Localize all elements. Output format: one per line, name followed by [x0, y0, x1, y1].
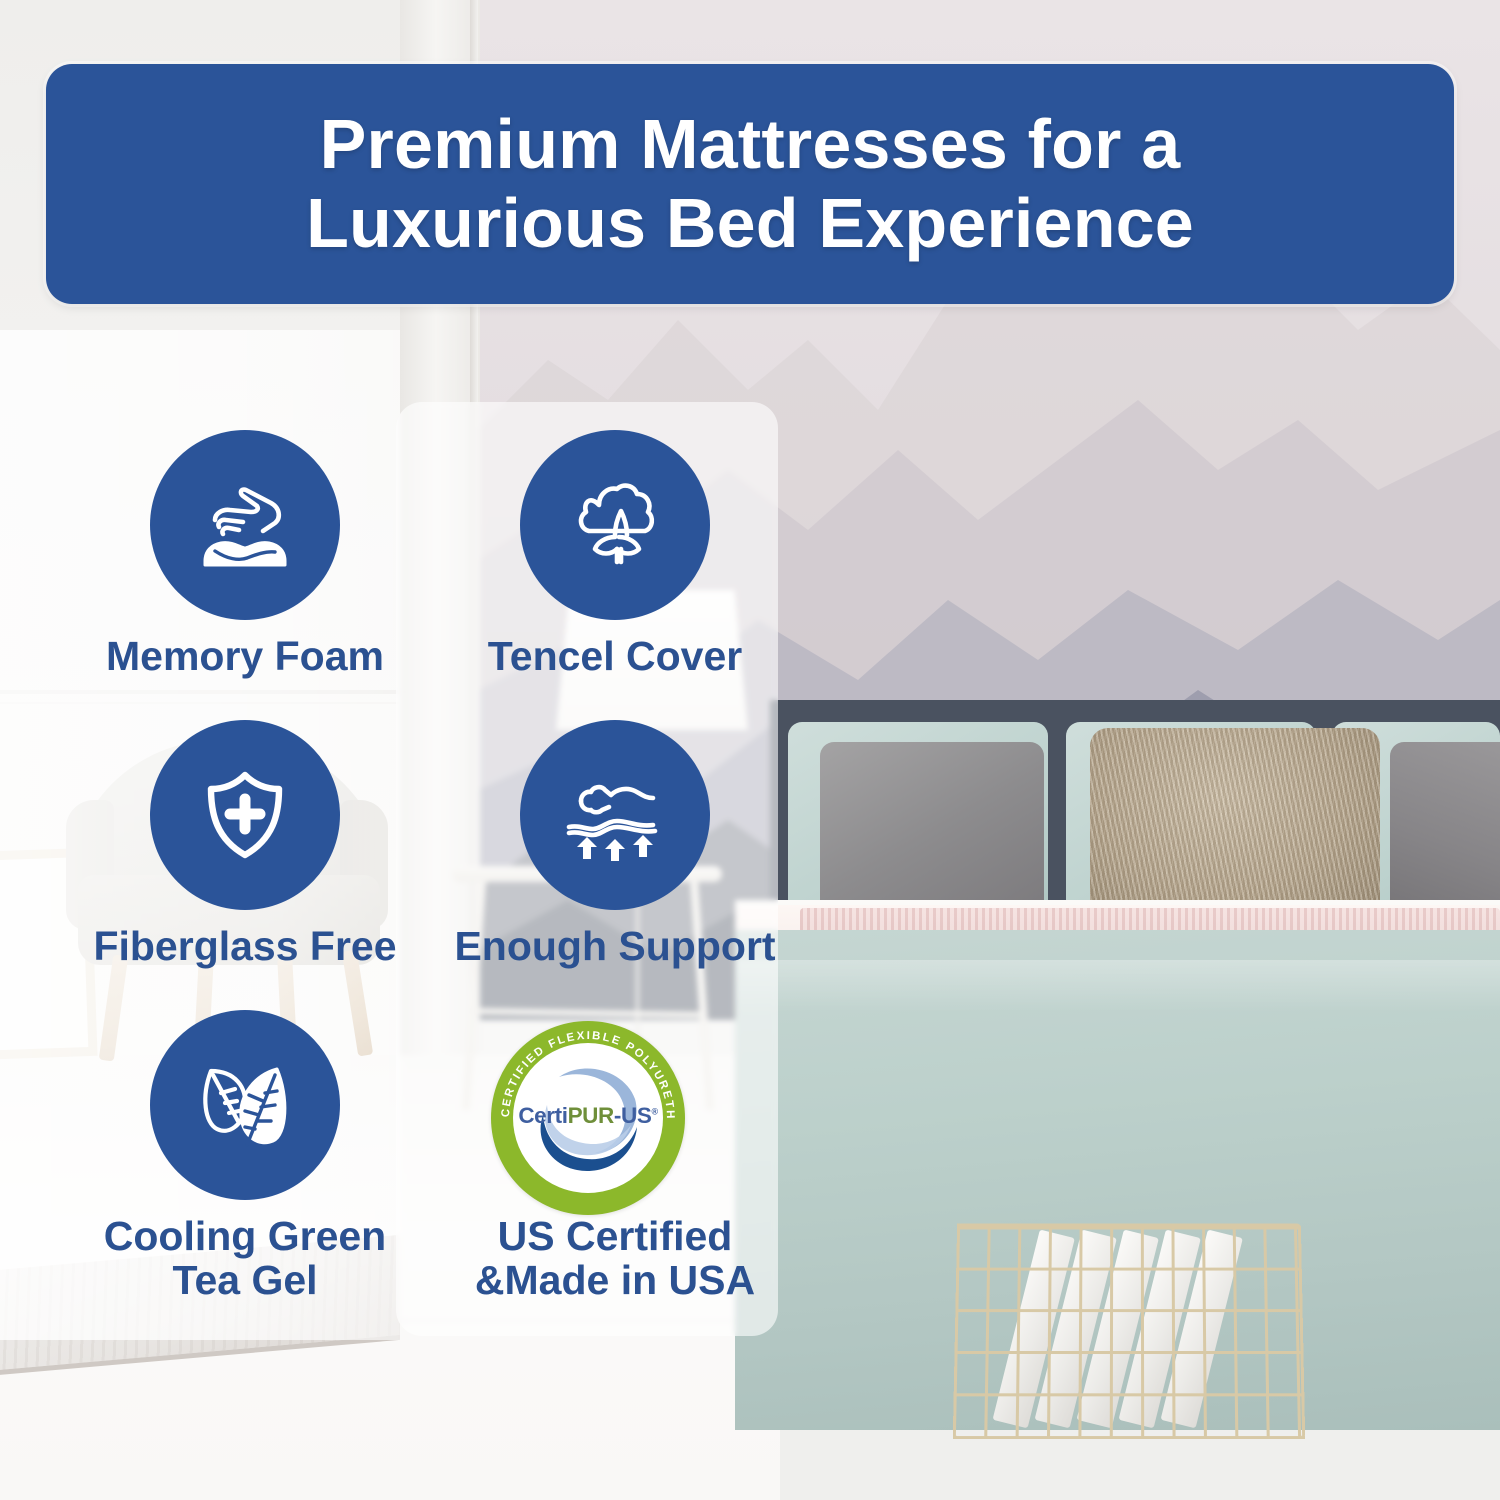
feature-row: Cooling Green Tea Gel US Certified &Made… [60, 1010, 800, 1340]
duvet-fold [735, 960, 1500, 1012]
page-title-line-1: Premium Mattresses for a [320, 105, 1181, 183]
feature-fiberglass-free[interactable]: Fiberglass Free [60, 720, 430, 1010]
person-on-mattress-support-arrows-icon [520, 720, 710, 910]
feature-grid: Memory Foam Tencel Cover [60, 430, 800, 1340]
cotton-boll-icon [520, 430, 710, 620]
feature-tencel-cover[interactable]: Tencel Cover [430, 430, 800, 720]
feature-label: US Certified &Made in USA [475, 1214, 755, 1303]
infographic-canvas: Premium Mattresses for a Luxurious Bed E… [0, 0, 1500, 1500]
feature-label: Fiberglass Free [93, 924, 396, 968]
hand-pressing-foam-icon [150, 430, 340, 620]
feature-row: Memory Foam Tencel Cover [60, 430, 800, 720]
feature-memory-foam[interactable]: Memory Foam [60, 430, 430, 720]
certipur-us-badge: CertiPUR-US® CONTAINS CERTIFIED FLEXIBLE… [491, 1021, 685, 1215]
certipur-top-arc-label: CONTAINS CERTIFIED FLEXIBLE POLYURETHANE… [491, 1021, 676, 1121]
page-title-line-2: Luxurious Bed Experience [306, 184, 1194, 263]
wire-basket [953, 1224, 1305, 1440]
feature-label: Memory Foam [106, 634, 384, 678]
pillow-grey-velvet [820, 742, 1044, 922]
pillow-faux-fur [1090, 728, 1380, 924]
feature-label: Tencel Cover [488, 634, 742, 678]
feature-cooling-green-tea-gel[interactable]: Cooling Green Tea Gel [60, 1010, 430, 1340]
feature-label: Enough Support [454, 924, 775, 968]
feature-enough-support[interactable]: Enough Support [430, 720, 800, 1010]
feature-label: Cooling Green Tea Gel [104, 1214, 386, 1303]
feature-row: Fiberglass Free [60, 720, 800, 1010]
certipur-arc-text: CONTAINS CERTIFIED FLEXIBLE POLYURETHANE… [491, 1021, 685, 1215]
header-banner: Premium Mattresses for a Luxurious Bed E… [46, 64, 1454, 304]
page-title: Premium Mattresses for a Luxurious Bed E… [306, 105, 1194, 263]
two-leaves-icon [150, 1010, 340, 1200]
certipur-bottom-arc-label: WWW.CERTIPUR.US [525, 1150, 651, 1192]
pillow-grey-velvet [1390, 742, 1500, 922]
shield-plus-icon [150, 720, 340, 910]
